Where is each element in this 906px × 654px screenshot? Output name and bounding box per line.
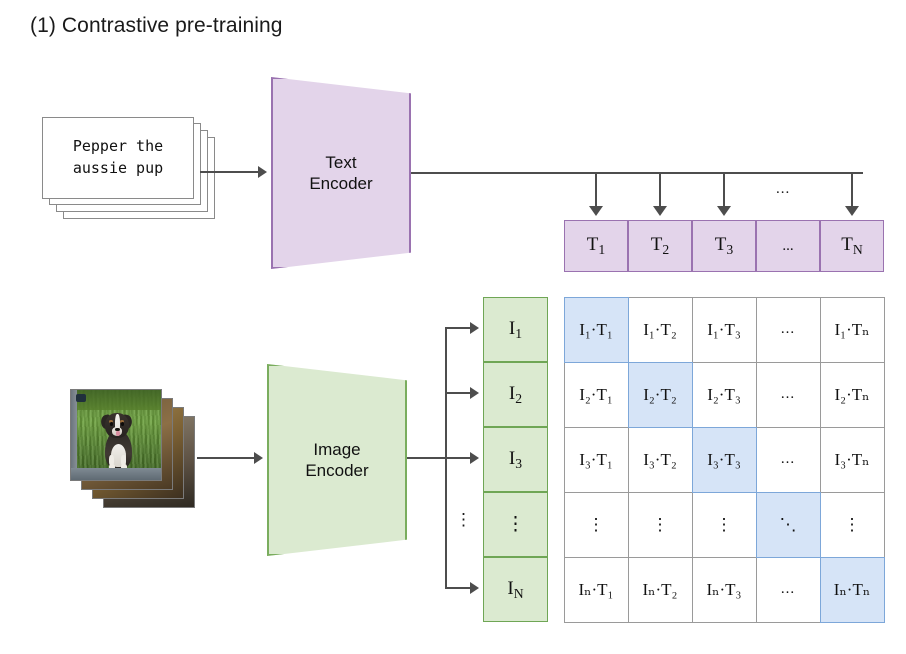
matrix-cell-r1-c4[interactable]: ... (756, 297, 821, 363)
text-encoder-line-1: Text (325, 153, 356, 172)
matrix-cell-r5-c1[interactable]: Iₙ·T₁ (564, 557, 629, 623)
matrix-cell-r1-c5[interactable]: I₁·Tₙ (820, 297, 885, 363)
image-embedding-label-3: I3 (509, 448, 522, 472)
matrix-cell-r3-c2[interactable]: I₃·T₂ (628, 427, 693, 493)
matrix-cell-r5-c5[interactable]: Iₙ·Tₙ (820, 557, 885, 623)
text-encoder-label: Text Encoder (309, 152, 372, 195)
image-embedding-cell-ellipsis: ⋮ (483, 492, 548, 557)
text-bus-arrowhead-3 (717, 206, 731, 216)
text-embedding-label-3: T3 (715, 234, 733, 258)
image-branch-arrowhead-1 (470, 322, 479, 334)
image-embedding-cell-2[interactable]: I2 (483, 362, 548, 427)
dog-eye-right (121, 422, 125, 426)
image-encoder-line-2: Encoder (305, 461, 368, 480)
image-output-bus-stub (407, 457, 447, 459)
image-branch-line-n (445, 587, 471, 589)
text-embedding-cell-n[interactable]: TN (820, 220, 884, 272)
text-bus-drop-1 (595, 172, 597, 208)
similarity-matrix: I₁·T₁I₁·T₂I₁·T₃...I₁·TₙI₂·T₁I₂·T₂I₂·T₃..… (564, 297, 884, 622)
image-to-encoder-line (197, 457, 255, 459)
text-input-card[interactable]: Pepper theaussie pup (42, 117, 194, 199)
matrix-cell-r3-c4[interactable]: ... (756, 427, 821, 493)
text-to-encoder-arrowhead (258, 166, 267, 178)
matrix-cell-r4-c4[interactable]: ⋱ (756, 492, 821, 558)
page-title: (1) Contrastive pre-training (30, 14, 283, 38)
matrix-cell-r2-c3[interactable]: I₂·T₃ (692, 362, 757, 428)
image-branch-line-1 (445, 327, 471, 329)
matrix-cell-r1-c2[interactable]: I₁·T₂ (628, 297, 693, 363)
diagram-canvas: (1) Contrastive pre-training Pepper thea… (0, 0, 906, 654)
text-to-encoder-line (200, 171, 260, 173)
image-embedding-label-2: I2 (509, 383, 522, 407)
image-encoder-line-1: Image (313, 440, 360, 459)
text-embedding-cell-3[interactable]: T3 (692, 220, 756, 272)
image-embedding-cell-1[interactable]: I1 (483, 297, 548, 362)
matrix-cell-r2-c2[interactable]: I₂·T₂ (628, 362, 693, 428)
matrix-cell-r5-c3[interactable]: Iₙ·T₃ (692, 557, 757, 623)
image-branch-line-2 (445, 392, 471, 394)
photo-frame-bottom (71, 468, 161, 480)
image-to-encoder-arrowhead (254, 452, 263, 464)
image-input-photo[interactable] (70, 389, 162, 481)
matrix-cell-r2-c4[interactable]: ... (756, 362, 821, 428)
image-branch-ellipsis: ⋮ (455, 510, 472, 530)
image-encoder-block[interactable]: Image Encoder (267, 364, 407, 556)
text-encoder-line-2: Encoder (309, 174, 372, 193)
text-embedding-cell-ellipsis: ... (756, 220, 820, 272)
text-embedding-cell-2[interactable]: T2 (628, 220, 692, 272)
matrix-cell-r1-c1[interactable]: I₁·T₁ (564, 297, 629, 363)
image-branch-arrowhead-n (470, 582, 479, 594)
matrix-cell-r3-c1[interactable]: I₃·T₁ (564, 427, 629, 493)
text-embedding-label-ellipsis: ... (782, 238, 793, 255)
text-bus-ellipsis: ... (776, 181, 790, 198)
text-embedding-label-1: T1 (587, 234, 605, 258)
matrix-cell-r2-c5[interactable]: I₂·Tₙ (820, 362, 885, 428)
dog-tongue (116, 431, 121, 436)
matrix-cell-r3-c5[interactable]: I₃·Tₙ (820, 427, 885, 493)
text-bus-drop-2 (659, 172, 661, 208)
image-embedding-label-1: I1 (509, 318, 522, 342)
text-embedding-cell-1[interactable]: T1 (564, 220, 628, 272)
image-embedding-label-n: IN (507, 578, 523, 602)
matrix-cell-r4-c3[interactable]: ⋮ (692, 492, 757, 558)
text-bus-arrowhead-n (845, 206, 859, 216)
image-embedding-cell-n[interactable]: IN (483, 557, 548, 622)
matrix-cell-r3-c3[interactable]: I₃·T₃ (692, 427, 757, 493)
text-embedding-label-n: TN (841, 234, 862, 258)
matrix-cell-r4-c5[interactable]: ⋮ (820, 492, 885, 558)
matrix-cell-r5-c4[interactable]: ... (756, 557, 821, 623)
matrix-cell-r5-c2[interactable]: Iₙ·T₂ (628, 557, 693, 623)
matrix-cell-r4-c1[interactable]: ⋮ (564, 492, 629, 558)
image-embedding-cell-3[interactable]: I3 (483, 427, 548, 492)
photo-corner-badge (76, 394, 87, 402)
text-bus-arrowhead-1 (589, 206, 603, 216)
text-output-bus-horizontal (411, 172, 863, 174)
image-branch-arrowhead-2 (470, 387, 479, 399)
caption-line-1: Pepper the (73, 137, 163, 155)
matrix-cell-r1-c3[interactable]: I₁·T₃ (692, 297, 757, 363)
image-branch-line-3 (445, 457, 471, 459)
text-encoder-block[interactable]: Text Encoder (271, 77, 411, 269)
photo-frame-left (71, 390, 77, 480)
matrix-cell-r2-c1[interactable]: I₂·T₁ (564, 362, 629, 428)
image-encoder-label: Image Encoder (305, 439, 368, 482)
text-embedding-label-2: T2 (651, 234, 669, 258)
image-branch-arrowhead-3 (470, 452, 479, 464)
text-input-caption: Pepper theaussie pup (73, 136, 163, 180)
caption-line-2: aussie pup (73, 159, 163, 177)
matrix-cell-r4-c2[interactable]: ⋮ (628, 492, 693, 558)
text-bus-arrowhead-2 (653, 206, 667, 216)
text-bus-drop-3 (723, 172, 725, 208)
text-bus-drop-n (851, 172, 853, 208)
image-embedding-label-ellipsis: ⋮ (506, 513, 525, 536)
